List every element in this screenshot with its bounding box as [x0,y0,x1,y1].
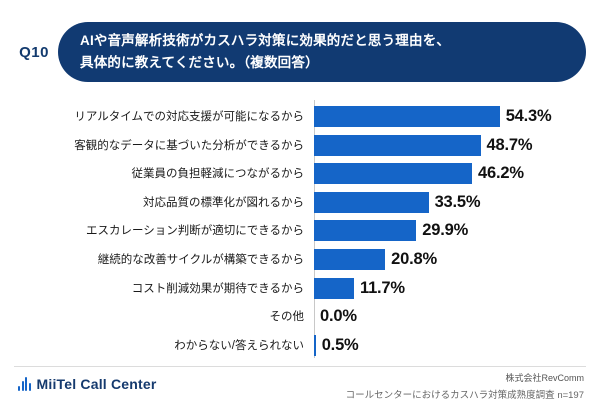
bar-category-label: 対応品質の標準化が図れるから [14,192,304,214]
footer-credits: 株式会社RevComm コールセンターにおけるカスハラ対策成熟度調査 n=197 [346,372,584,403]
bar-value-label: 33.5% [435,191,481,213]
slide-footer: MiiTel Call Center 株式会社RevComm コールセンターにお… [0,366,600,416]
bar-value-label: 29.9% [422,219,468,241]
bar-category-label: その他 [14,306,304,328]
bar-value-label: 0.5% [322,334,359,356]
bar-value-label: 20.8% [391,248,437,270]
bar-category-label: 従業員の負担軽減につながるから [14,163,304,185]
bar-value-label: 11.7% [360,277,405,299]
bar [314,192,429,213]
question-header: Q10 AIや音声解析技術がカスハラ対策に効果的だと思う理由を、 具体的に教えて… [14,22,586,82]
question-title-line-2: 具体的に教えてください。（複数回答） [80,52,564,74]
company-name: 株式会社RevComm [346,372,584,386]
bar-value-label: 0.0% [320,305,357,327]
sample-size: n=197 [557,390,584,401]
question-number-badge: Q10 [14,34,54,70]
bar-chart: リアルタイムでの対応支援が可能になるから54.3%客観的なデータに基づいた分析が… [14,100,586,362]
footer-divider [14,366,586,367]
bar [314,106,500,127]
bar-value-label: 54.3% [506,105,552,127]
survey-name-line: コールセンターにおけるカスハラ対策成熟度調査 n=197 [346,388,584,403]
question-title-bar: AIや音声解析技術がカスハラ対策に効果的だと思う理由を、 具体的に教えてください… [58,22,586,82]
miitel-logo: MiiTel Call Center [18,376,157,392]
bar-category-label: コスト削減効果が期待できるから [14,278,304,300]
slide-root: Q10 AIや音声解析技術がカスハラ対策に効果的だと思う理由を、 具体的に教えて… [0,0,600,416]
waveform-icon [18,377,31,391]
bar-category-label: 客観的なデータに基づいた分析ができるから [14,135,304,157]
bar-category-label: リアルタイムでの対応支援が可能になるから [14,106,304,128]
bar-category-label: わからない/答えられない [14,335,304,357]
bar [314,220,416,241]
bar [314,163,472,184]
bar-category-label: エスカレーション判断が適切にできるから [14,220,304,242]
bar [314,135,481,156]
bar [314,249,385,270]
logo-text: MiiTel Call Center [37,376,157,392]
survey-name: コールセンターにおけるカスハラ対策成熟度調査 [346,390,555,401]
bar-category-label: 継続的な改善サイクルが構築できるから [14,249,304,271]
bar [314,278,354,299]
bar [314,335,316,356]
question-title-line-1: AIや音声解析技術がカスハラ対策に効果的だと思う理由を、 [80,30,564,52]
bar-value-label: 48.7% [487,134,533,156]
bar-value-label: 46.2% [478,162,524,184]
